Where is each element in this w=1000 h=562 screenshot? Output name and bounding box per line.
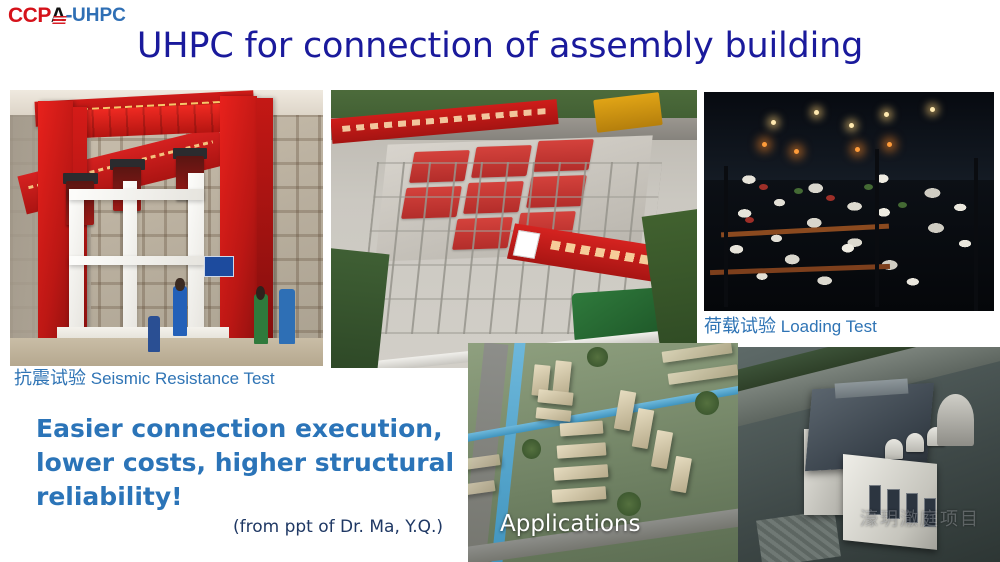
red-sandbag: [745, 217, 754, 223]
source-attribution: (from ppt of Dr. Ma, Y.Q.): [233, 517, 443, 537]
site-light-orange: [855, 147, 860, 152]
applications-label: Applications: [500, 511, 641, 537]
photo-site-aerial-scene: [331, 90, 697, 368]
site-light: [814, 110, 819, 115]
photo-loading-night: [704, 92, 994, 311]
site-light-orange: [794, 149, 799, 154]
caption-loading-test-cn: 荷载试验: [704, 316, 776, 337]
photo-seismic-lab-scene: [10, 90, 323, 366]
specimen-beam-upper: [69, 189, 204, 200]
person-green-shirt: [254, 294, 268, 344]
red-sandbag: [826, 195, 835, 201]
roof-dormer: [906, 433, 924, 452]
blue-sign-plate: [204, 256, 234, 277]
steel-column-right: [220, 96, 258, 361]
caption-seismic-test-cn: 抗震试验: [14, 368, 86, 389]
support-post-right: [974, 158, 978, 311]
green-sandbag: [898, 202, 907, 208]
slide-title: UHPC for connection of assembly building: [0, 26, 1000, 66]
night-sky: [704, 92, 994, 180]
photo-watermark: 濠玥澈庭项目: [860, 505, 980, 531]
roof-dormer: [885, 439, 903, 458]
support-post-mid: [875, 149, 879, 307]
photo-loading-night-scene: [704, 92, 994, 311]
sandbag-layer-bottom: [704, 237, 936, 294]
ccpa-uhpc-logo: CCP A - UHPC: [8, 4, 126, 28]
key-message-line-2: lower costs, higher structural: [36, 446, 466, 480]
caption-loading-test-en: Loading Test: [781, 317, 877, 336]
person-crouching: [148, 316, 161, 352]
site-light: [884, 112, 889, 117]
specimen-column-left: [69, 189, 83, 341]
arched-entrance: [937, 394, 974, 446]
caption-loading-test: 荷载试验 Loading Test: [704, 317, 877, 337]
caption-seismic-test: 抗震试验 Seismic Resistance Test: [14, 369, 275, 389]
key-message: Easier connection execution, lower costs…: [36, 412, 466, 514]
lab-floor: [10, 338, 323, 366]
caption-seismic-test-en: Seismic Resistance Test: [91, 369, 275, 388]
person-head-1: [175, 278, 184, 292]
steel-column-left: [38, 101, 72, 355]
green-sandbag: [864, 184, 873, 190]
photo-seismic-lab: [10, 90, 323, 366]
logo-text-a: A: [51, 4, 66, 28]
flag-icon: [52, 16, 66, 24]
photo-building-aerial: 濠玥澈庭项目: [738, 347, 1000, 562]
logo-text-ccp: CCP: [8, 4, 51, 28]
photo-site-aerial: [331, 90, 697, 368]
key-message-line-1: Easier connection execution,: [36, 412, 466, 446]
red-sandbag: [759, 184, 768, 190]
specimen-beam-lower: [69, 256, 204, 266]
logo-text-uhpc: UHPC: [72, 5, 126, 27]
site-light: [849, 123, 854, 128]
key-message-line-3: reliability!: [36, 480, 466, 514]
person-blue-shirt-2: [279, 289, 295, 344]
person-blue-shirt: [173, 286, 187, 336]
tree-cluster: [522, 439, 541, 459]
photo-applications-aerial: Applications: [468, 343, 738, 562]
support-post-left: [724, 166, 728, 306]
